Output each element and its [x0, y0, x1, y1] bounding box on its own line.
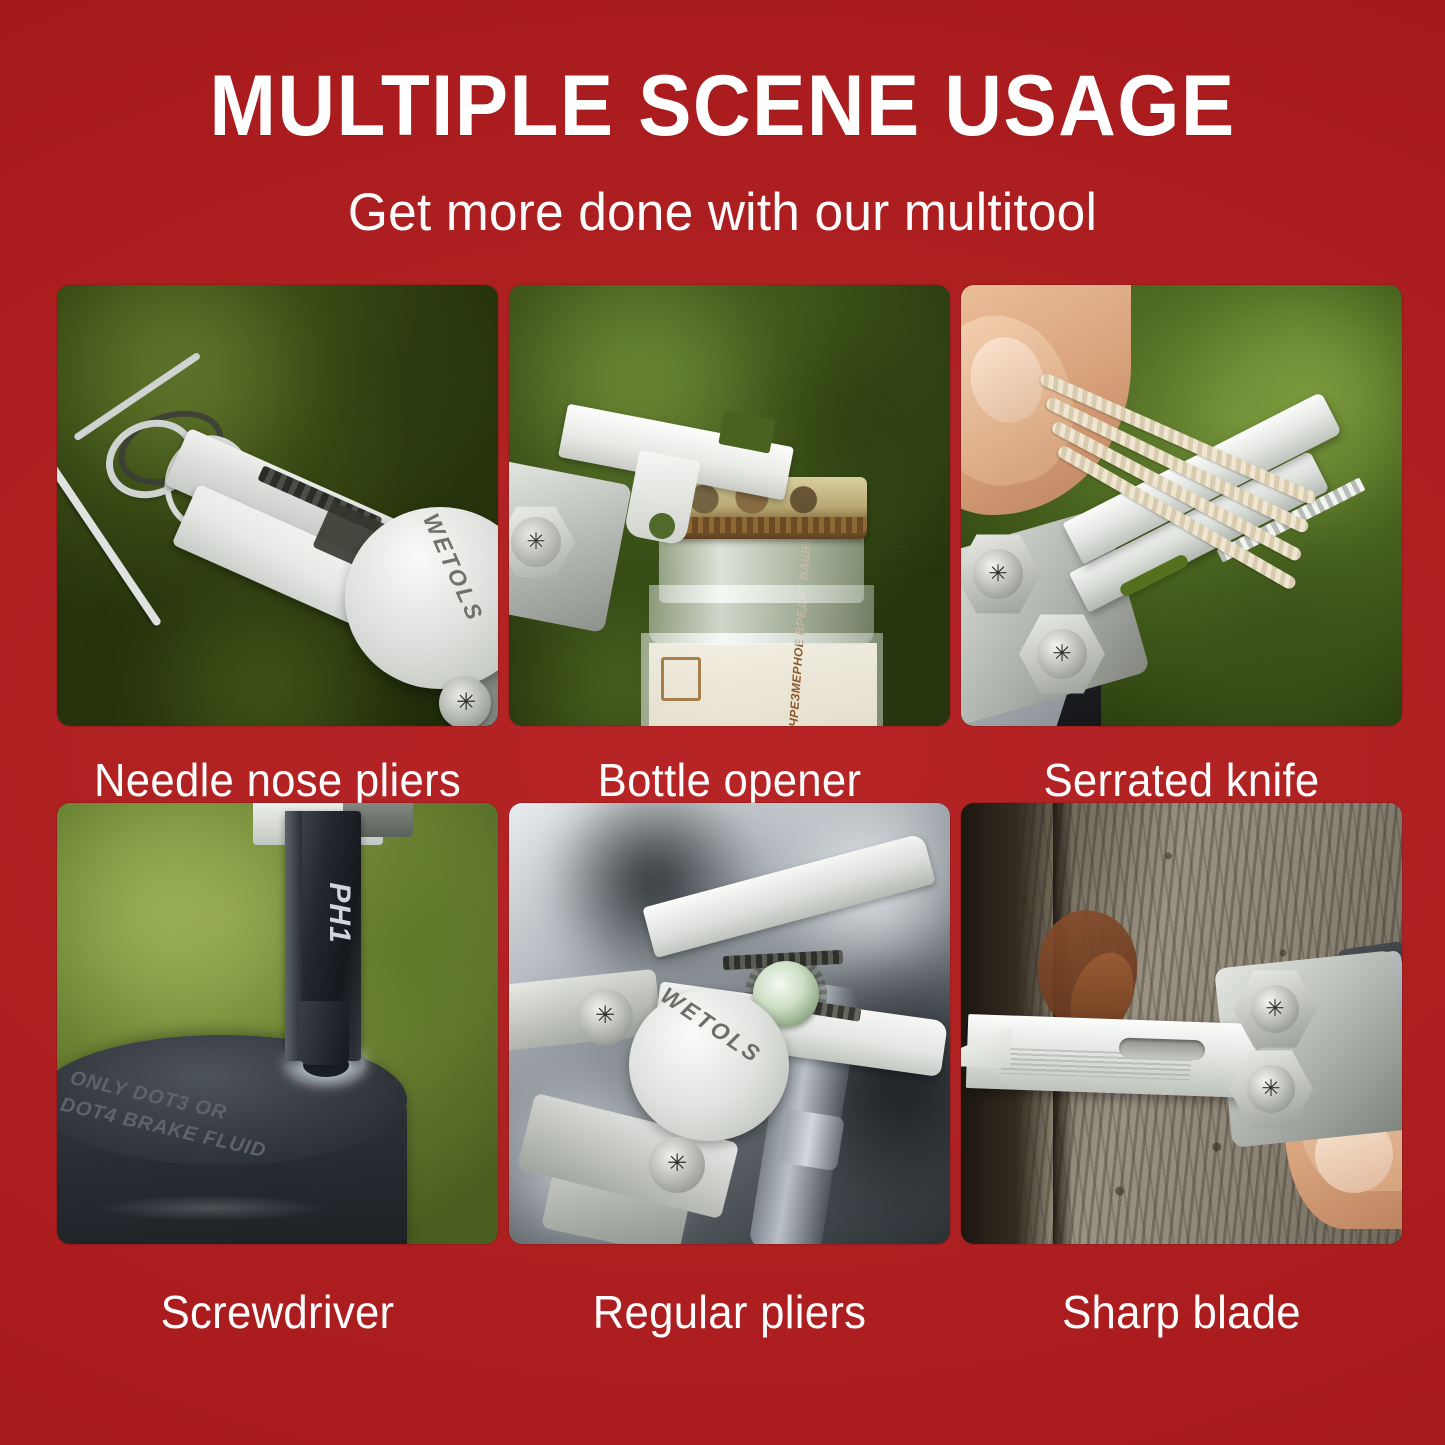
caption-sharp-blade: Sharp blade — [972, 1289, 1391, 1335]
photo-bottle-opener: ЧРЕЗМЕРНОЕ ВРЕДИТ ВАШЕМУ ✳ — [509, 285, 950, 726]
bit-label: PH1 — [292, 882, 356, 944]
caption-regular-pliers: Regular pliers — [520, 1289, 939, 1335]
screw-cross-icon: ✳ — [593, 1005, 617, 1029]
feature-cell-regular-pliers: WETOLS ✳ ✳ Regular pliers — [509, 803, 950, 1335]
feature-cell-sharp-blade: ✳ ✳ Sharp blade — [961, 803, 1402, 1335]
caption-serrated-knife: Serrated knife — [972, 757, 1391, 803]
page-subtitle: Get more done with our multitool — [22, 186, 1424, 239]
screw-cross-icon: ✳ — [525, 531, 547, 553]
feature-grid: WETOLS ✳ Needle nose pliers ЧРЕЗМЕРНОЕ В… — [57, 285, 1391, 1335]
machinery-fitting — [779, 1109, 845, 1171]
page-title: MULTIPLE SCENE USAGE — [51, 63, 1395, 149]
screw-cross-icon: ✳ — [665, 1153, 689, 1177]
screw-cross-icon: ✳ — [1051, 643, 1073, 665]
cap-fluting — [659, 517, 867, 533]
caption-needle-nose-pliers: Needle nose pliers — [68, 757, 487, 803]
bokeh-highlight — [307, 285, 498, 495]
infographic-page: MULTIPLE SCENE USAGE Get more done with … — [0, 0, 1445, 1445]
screw-cross-icon: ✳ — [1264, 998, 1286, 1020]
photo-needle-nose-pliers: WETOLS ✳ — [57, 285, 498, 726]
feature-cell-screwdriver: ONLY DOT3 OR DOT4 BRAKE FLUID PH1 Screwd… — [57, 803, 498, 1335]
photo-sharp-blade: ✳ ✳ — [961, 803, 1402, 1244]
screw-cross-icon: ✳ — [987, 563, 1009, 585]
photo-regular-pliers: WETOLS ✳ ✳ — [509, 803, 950, 1244]
bottle-label-text: ЧРЕЗМЕРНОЕ ВРЕДИТ ВАШЕМУ — [786, 646, 867, 726]
feature-cell-needle-nose-pliers: WETOLS ✳ Needle nose pliers — [57, 285, 498, 803]
blade-slot — [1119, 1038, 1206, 1061]
bit-tip — [299, 1001, 349, 1065]
cap-sheen — [97, 1195, 327, 1221]
caption-screwdriver: Screwdriver — [68, 1289, 487, 1335]
caption-bottle-opener: Bottle opener — [520, 757, 939, 803]
photo-serrated-knife: ✳ ✳ — [961, 285, 1402, 726]
photo-screwdriver: ONLY DOT3 OR DOT4 BRAKE FLUID PH1 — [57, 803, 498, 1244]
feature-cell-bottle-opener: ЧРЕЗМЕРНОЕ ВРЕДИТ ВАШЕМУ ✳ Bottle opener — [509, 285, 950, 803]
screw-cross-icon: ✳ — [455, 693, 477, 715]
bottle-neck — [659, 533, 864, 603]
feature-cell-serrated-knife: ✳ ✳ Serrated knife — [961, 285, 1402, 803]
screw-cross-icon: ✳ — [1260, 1078, 1282, 1100]
label-emblem — [661, 657, 701, 701]
